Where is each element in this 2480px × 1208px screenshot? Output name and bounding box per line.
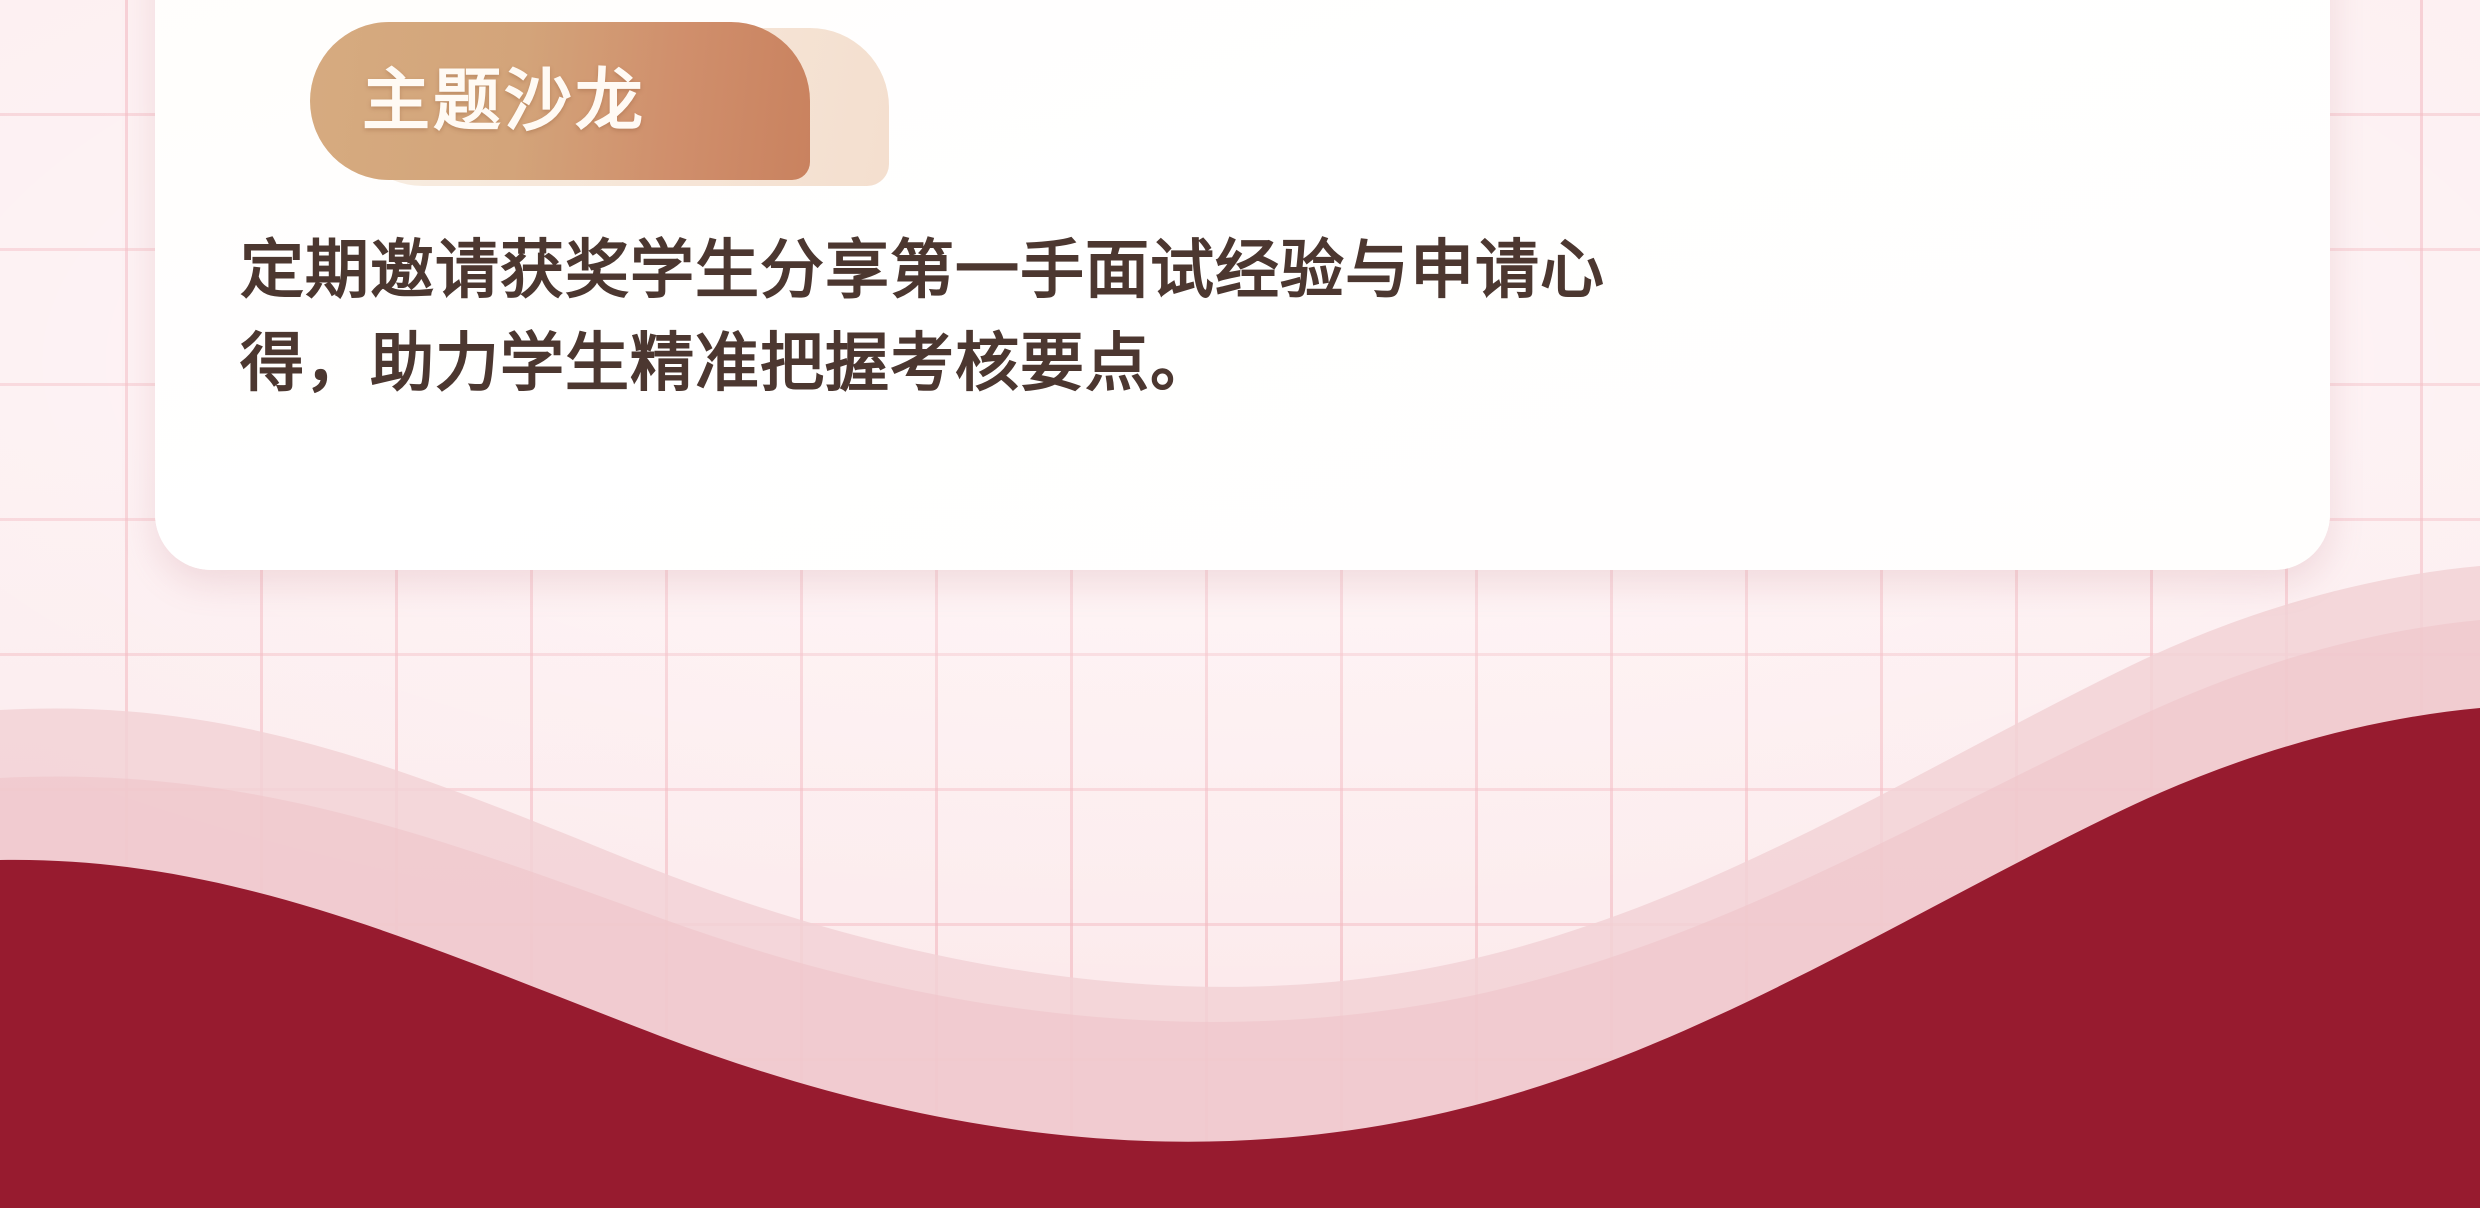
section-badge-label: 主题沙龙 [362,67,646,135]
card-body-line-1: 定期邀请获奖学生分享第一手面试经验与申请心 [240,224,2060,317]
poster-canvas: 主题沙龙 定期邀请获奖学生分享第一手面试经验与申请心 得，助力学生精准把握考核要… [0,0,2480,1208]
card-body-text: 定期邀请获奖学生分享第一手面试经验与申请心 得，助力学生精准把握考核要点。 [240,224,2060,410]
card-body-line-2: 得，助力学生精准把握考核要点。 [240,317,2060,410]
section-badge-pill: 主题沙龙 [310,22,810,180]
